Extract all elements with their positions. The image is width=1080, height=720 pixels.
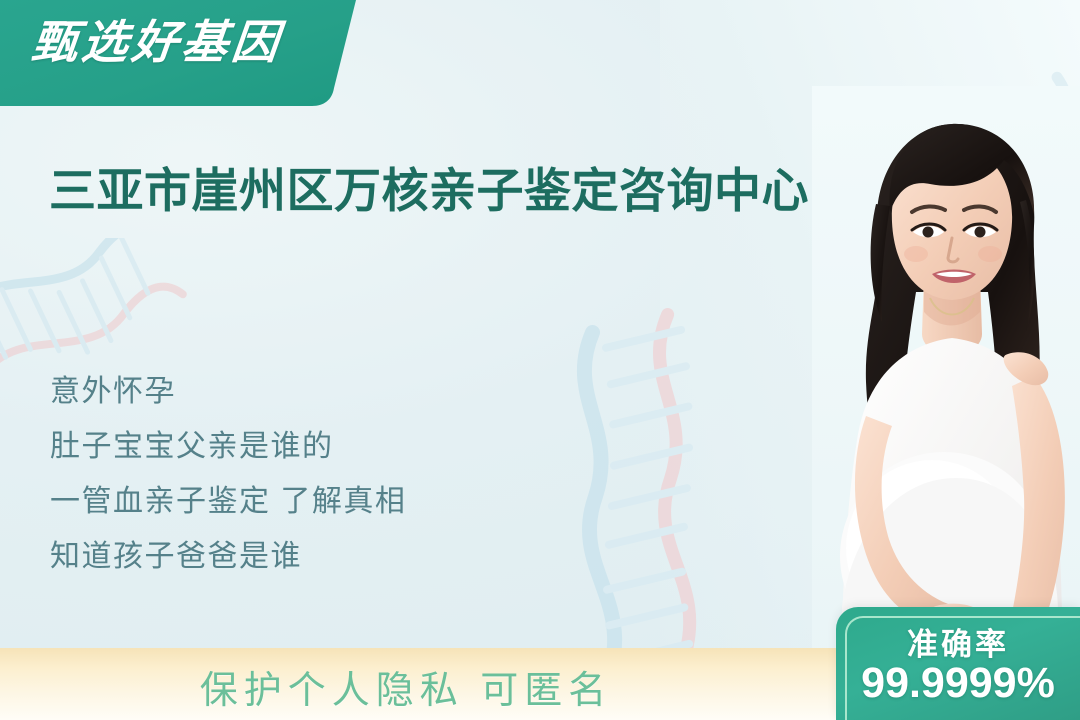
- promo-copy-line-1: 意外怀孕: [50, 364, 690, 419]
- logo-badge-shape: [0, 0, 364, 110]
- promo-copy-line-4: 知道孩子爸爸是谁: [50, 529, 690, 584]
- brand-logo-badge: 甄选好基因: [0, 0, 364, 110]
- logo-wordmark: 甄选好基因: [30, 20, 285, 66]
- promo-copy-line-2: 肚子宝宝父亲是谁的: [50, 419, 690, 474]
- promo-copy-line-3: 一管血亲子鉴定 了解真相: [50, 474, 690, 529]
- privacy-banner-text: 保护个人隐私 可匿名: [0, 655, 812, 717]
- promo-banner: 甄选好基因 三亚市崖州区万核亲子鉴定咨询中心 意外怀孕 肚子宝宝父亲是谁的 一管…: [0, 0, 1080, 720]
- page-title: 三亚市崖州区万核亲子鉴定咨询中心: [49, 160, 859, 221]
- accuracy-badge: 准确率 99.9999%: [836, 607, 1080, 720]
- accuracy-badge-value: 99.9999%: [836, 659, 1080, 708]
- promo-copy-list: 意外怀孕 肚子宝宝父亲是谁的 一管血亲子鉴定 了解真相 知道孩子爸爸是谁: [50, 364, 690, 584]
- accuracy-badge-label: 准确率: [836, 619, 1080, 664]
